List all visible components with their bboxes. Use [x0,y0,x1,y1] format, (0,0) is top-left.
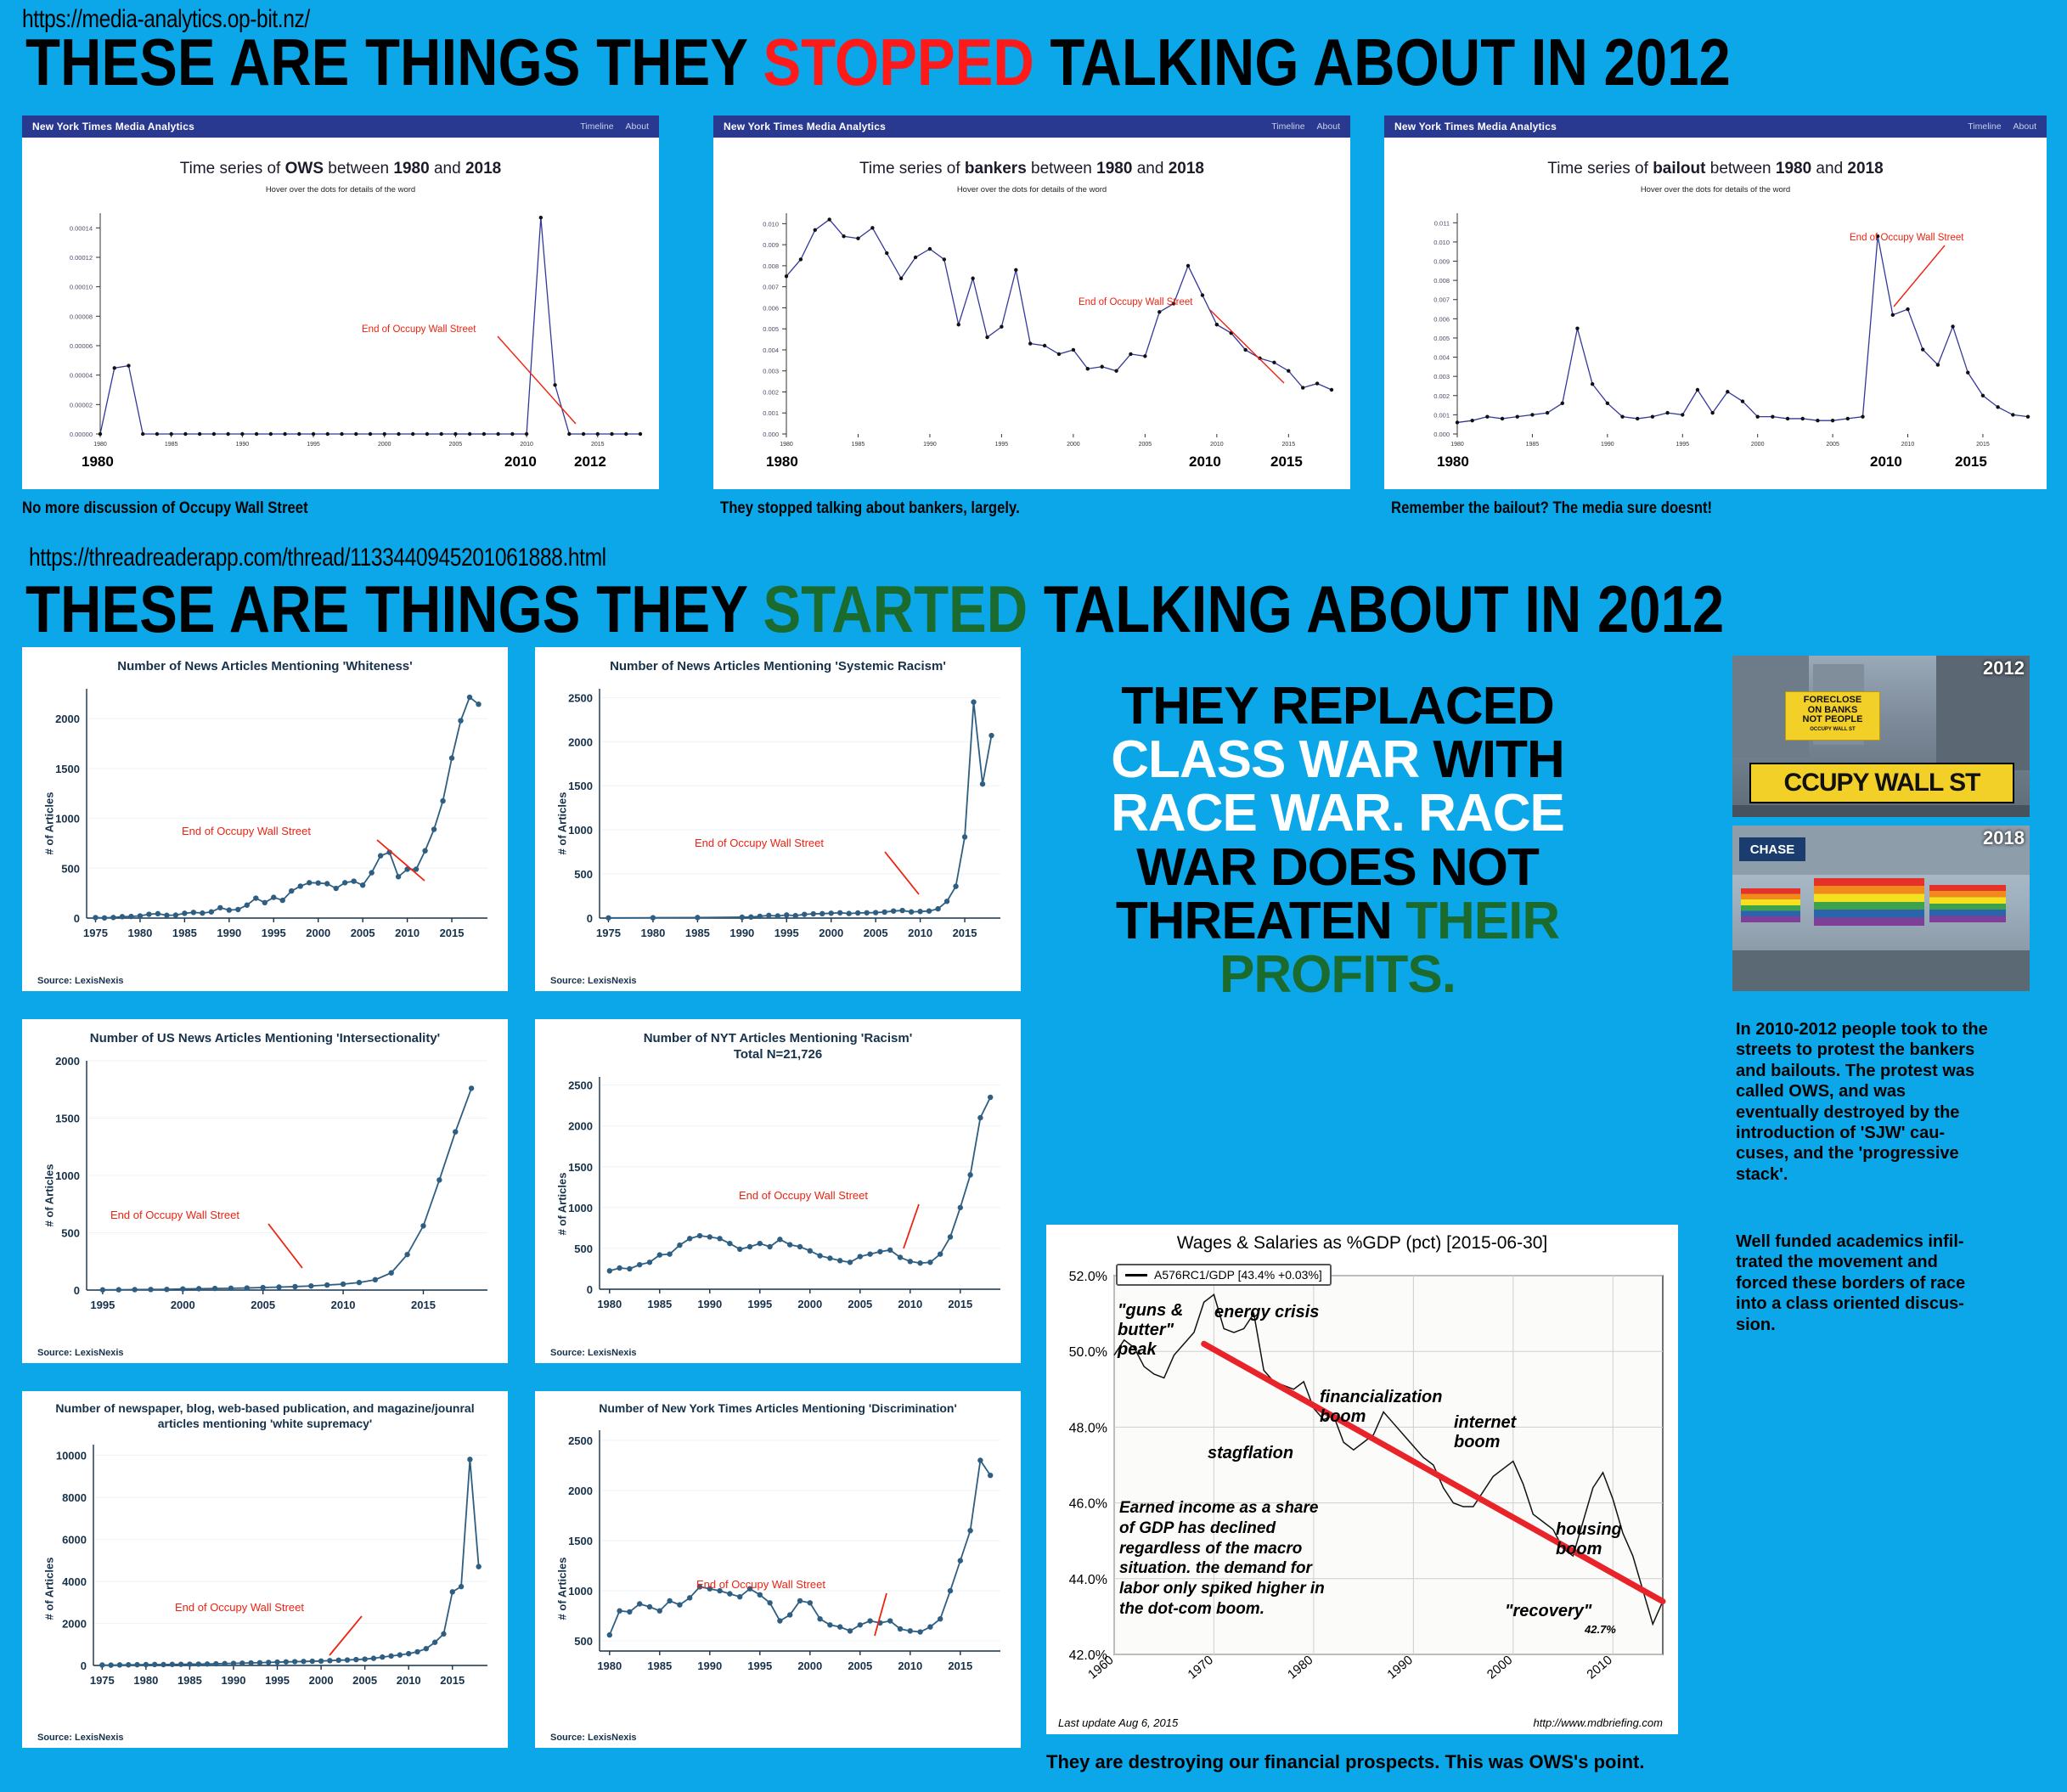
center-slogan: THEY REPLACED CLASS WAR WITH RACE WAR. R… [1053,679,1622,1001]
t-and: and [430,160,465,178]
card-title-nyt-racism: Number of NYT Articles Mentioning 'Racis… [535,1019,1021,1063]
t-and: and [1811,160,1847,178]
t-word: OWS [285,160,324,178]
svg-text:500: 500 [61,862,80,875]
svg-text:44.0%: 44.0% [1069,1573,1107,1587]
svg-text:0.003: 0.003 [763,368,779,375]
svg-text:2000: 2000 [568,735,593,748]
t-and: and [1132,160,1168,178]
ylabel-nyt-discrimination: # of Articles [556,1538,569,1640]
svg-text:1990: 1990 [236,442,250,448]
svg-text:1985: 1985 [165,442,178,448]
svg-text:1980: 1980 [780,442,793,448]
headline-stopped: THESE ARE THINGS THEY STOPPED TALKING AB… [25,24,1731,101]
svg-text:0.00008: 0.00008 [70,313,93,320]
svg-text:0.002: 0.002 [1433,392,1450,400]
card-title-systemic-racism: Number of News Articles Mentioning 'Syst… [535,647,1021,675]
svg-text:2000: 2000 [1751,442,1765,448]
headline-stopped-pre: THESE ARE THINGS THEY [25,25,763,99]
svg-text:1985: 1985 [647,1660,672,1672]
svg-text:1995: 1995 [262,927,286,939]
title-text: Number of NYT Articles Mentioning 'Racis… [644,1031,913,1045]
svg-text:1985: 1985 [177,1674,202,1687]
subtitle-text: Total N=21,726 [734,1047,822,1062]
svg-text:1990: 1990 [1384,1653,1415,1682]
svg-text:0: 0 [587,1283,593,1296]
axis-big-1980-bailout: 1980 [1437,454,1469,471]
svg-text:2015: 2015 [440,927,465,939]
svg-text:2005: 2005 [864,927,888,939]
svg-text:2000: 2000 [797,1298,822,1310]
svg-text:1985: 1985 [852,442,865,448]
plot-bailout: 0.0000.0010.0020.0030.0040.0050.0060.007… [1384,205,2047,459]
nav-about[interactable]: About [626,121,649,132]
svg-text:2000: 2000 [1484,1653,1515,1682]
t-word: bankers [965,160,1027,178]
svg-text:0.006: 0.006 [1433,315,1450,323]
t-from: 1980 [393,160,429,178]
svg-text:500: 500 [61,1226,80,1239]
svg-text:0.008: 0.008 [763,262,779,270]
source-intersectionality: Source: LexisNexis [37,1348,124,1358]
t-mid: between [324,160,393,178]
ylabel-nyt-racism: # of Articles [556,1153,569,1255]
svg-text:0.00000: 0.00000 [70,431,93,438]
svg-text:1975: 1975 [596,927,621,939]
source-url-mid[interactable]: https://threadreaderapp.com/thread/11334… [29,544,606,572]
headline-started: THESE ARE THINGS THEY STARTED TALKING AB… [25,571,1724,648]
t-pre: Time series of [859,160,965,178]
svg-text:0.007: 0.007 [763,284,779,291]
source-white-supremacy: Source: LexisNexis [37,1733,124,1743]
svg-text:2010: 2010 [397,1674,421,1687]
svg-text:2015: 2015 [948,1660,972,1672]
svg-text:2015: 2015 [1976,442,1990,448]
svg-text:1500: 1500 [568,1160,593,1173]
svg-text:1990: 1990 [729,927,754,939]
svg-text:2005: 2005 [1139,442,1152,448]
svg-text:0.00010: 0.00010 [70,284,93,291]
card-wages-gdp: Wages & Salaries as %GDP (pct) [2015-06-… [1046,1225,1678,1734]
svg-text:0.00006: 0.00006 [70,342,93,350]
svg-text:1500: 1500 [568,780,593,792]
svg-text:1500: 1500 [55,1112,80,1124]
panel-title-bankers: Time series of bankers between 1980 and … [713,160,1350,178]
caption-ows: No more discussion of Occupy Wall Street [22,499,308,518]
svg-text:0.00012: 0.00012 [70,254,93,262]
svg-text:2010: 2010 [898,1660,922,1672]
svg-text:1990: 1990 [1601,442,1614,448]
slogan-threaten: THREATEN [1116,892,1405,950]
photo-pride-2018: 2018 CHASE J.P.Morgan [1732,826,2030,991]
t-mid: between [1705,160,1775,178]
caption-bailout: Remember the bailout? The media sure doe… [1391,499,1712,518]
svg-text:2500: 2500 [568,1079,593,1091]
wages-footer-right: http://www.mdbriefing.com [1534,1716,1663,1729]
wages-legend: A576RC1/GDP [43.4% +0.03%] [1116,1264,1332,1286]
nav-about[interactable]: About [1317,121,1340,132]
svg-text:0.004: 0.004 [763,347,779,354]
svg-text:8000: 8000 [62,1491,87,1504]
svg-text:0.001: 0.001 [763,409,779,417]
card-intersectionality: Number of US News Articles Mentioning 'I… [22,1019,508,1363]
nyt-panel-ows[interactable]: New York Times Media Analytics Timeline … [22,116,659,489]
svg-text:52.0%: 52.0% [1069,1270,1107,1284]
slogan-line-1: THEY REPLACED [1053,679,1622,733]
card-nyt-discrimination: Number of New York Times Articles Mentio… [535,1391,1021,1748]
svg-text:2015: 2015 [440,1674,465,1687]
slogan-their: THEIR [1405,892,1559,950]
svg-text:2010: 2010 [1901,442,1915,448]
ann-financialization-boom: financialization boom [1320,1388,1456,1427]
svg-text:2005: 2005 [449,442,463,448]
svg-text:1980: 1980 [127,927,152,939]
card-title-nyt-discrimination: Number of New York Times Articles Mentio… [535,1391,1021,1417]
svg-text:2015: 2015 [591,442,605,448]
card-title-intersectionality: Number of US News Articles Mentioning 'I… [22,1019,508,1047]
svg-text:1000: 1000 [55,812,80,825]
t-to: 2018 [1847,160,1883,178]
panel-subtitle-ows: Hover over the dots for details of the w… [22,185,659,194]
svg-text:0.004: 0.004 [1433,354,1450,362]
svg-text:500: 500 [574,1242,593,1254]
svg-text:0.007: 0.007 [1433,296,1450,304]
ann-recovery: "recovery" [1505,1602,1591,1621]
right-paragraph-1: In 2010-2012 people took to the streets … [1736,1019,1991,1185]
wages-footer-left: Last update Aug 6, 2015 [1058,1716,1178,1729]
svg-text:1985: 1985 [1526,442,1540,448]
svg-text:2000: 2000 [55,1055,80,1068]
svg-text:500: 500 [574,1635,593,1648]
svg-text:1980: 1980 [93,442,107,448]
photo-ows-2012: 2012 FORECLOSE ON BANKS NOT PEOPLE OCCUP… [1732,656,2030,817]
svg-text:1990: 1990 [697,1298,722,1310]
headline-stopped-post: TALKING ABOUT IN 2012 [1034,25,1731,99]
svg-text:1980: 1980 [597,1298,622,1310]
nyt-panel-bankers[interactable]: New York Times Media Analytics Timeline … [713,116,1350,489]
nyt-panel-bailout[interactable]: New York Times Media Analytics Timeline … [1384,116,2047,489]
slogan-class-war: CLASS WAR [1111,730,1419,789]
t-from: 1980 [1096,160,1132,178]
svg-text:End of Occupy Wall Street: End of Occupy Wall Street [1850,233,1964,243]
card-title-whiteness: Number of News Articles Mentioning 'Whit… [22,647,508,675]
source-nyt-racism: Source: LexisNexis [550,1348,637,1358]
svg-text:0.009: 0.009 [763,241,779,249]
svg-text:1980: 1980 [1450,442,1464,448]
ann-guns-butter: "guns & butter" peak [1118,1301,1202,1360]
svg-text:1995: 1995 [774,927,799,939]
svg-text:0.005: 0.005 [1433,335,1450,342]
nyt-topbar: New York Times Media Analytics Timeline … [713,116,1350,138]
svg-text:2000: 2000 [1067,442,1080,448]
t-to: 2018 [1169,160,1204,178]
banner-foreclose: FORECLOSE ON BANKS NOT PEOPLE OCCUPY WAL… [1785,691,1880,741]
t-pre: Time series of [1547,160,1653,178]
nav-timeline[interactable]: Timeline [1968,121,2001,132]
axis-big-2010-ows: 2010 [504,454,537,471]
svg-text:1980: 1980 [597,1660,622,1672]
legend-label: A576RC1/GDP [43.4% +0.03%] [1154,1268,1322,1282]
rainbow-flag-1 [1814,878,1924,926]
svg-text:0: 0 [74,1284,80,1297]
svg-text:0: 0 [74,912,80,925]
svg-text:2000: 2000 [568,1119,593,1132]
svg-text:End of Occupy Wall Street: End of Occupy Wall Street [739,1189,868,1202]
svg-text:2000: 2000 [378,442,391,448]
svg-text:500: 500 [574,868,593,881]
source-whiteness: Source: LexisNexis [37,976,124,986]
svg-text:1995: 1995 [747,1660,772,1672]
banner-line-3: NOT PEOPLE [1788,715,1877,725]
panel-title-bailout: Time series of bailout between 1980 and … [1384,160,2047,178]
slogan-line-5: THREATEN THEIR [1053,894,1622,948]
svg-text:0.003: 0.003 [1433,373,1450,380]
rainbow-flag-3 [1741,888,1800,922]
slogan-line-2: CLASS WAR WITH [1053,733,1622,786]
svg-text:1000: 1000 [568,1201,593,1214]
svg-text:2500: 2500 [568,691,593,704]
rainbow-flag-2 [1929,885,2006,922]
svg-text:2500: 2500 [568,1434,593,1446]
svg-text:0.008: 0.008 [1433,277,1450,285]
nav-about[interactable]: About [2013,121,2036,132]
svg-text:2005: 2005 [848,1660,872,1672]
svg-text:2000: 2000 [306,927,330,939]
svg-text:1995: 1995 [307,442,320,448]
svg-text:4000: 4000 [62,1575,87,1588]
ann-housing-boom: housing boom [1556,1520,1641,1559]
t-mid: between [1027,160,1096,178]
svg-text:1000: 1000 [568,1585,593,1598]
svg-text:1990: 1990 [222,1674,246,1687]
nav-timeline[interactable]: Timeline [580,121,613,132]
card-white-supremacy: Number of newspaper, blog, web-based pub… [22,1391,508,1748]
svg-text:1975: 1975 [90,1674,115,1687]
svg-text:End of Occupy Wall Street: End of Occupy Wall Street [696,1578,825,1591]
svg-text:2010: 2010 [908,927,932,939]
axis-big-2015-bailout: 2015 [1955,454,1987,471]
axis-big-2010-bankers: 2010 [1189,454,1221,471]
plot-bankers: 0.0000.0010.0020.0030.0040.0050.0060.007… [713,205,1350,459]
t-from: 1980 [1776,160,1811,178]
source-systemic-racism: Source: LexisNexis [550,976,637,986]
card-systemic-racism: Number of News Articles Mentioning 'Syst… [535,647,1021,991]
svg-text:1990: 1990 [923,442,937,448]
svg-text:2000: 2000 [309,1674,334,1687]
photo-year-2018: 2018 [1983,827,2025,849]
svg-text:End of Occupy Wall Street: End of Occupy Wall Street [1079,297,1193,307]
card-nyt-racism: Number of NYT Articles Mentioning 'Racis… [535,1019,1021,1363]
ylabel-intersectionality: # of Articles [43,1145,56,1247]
svg-text:2015: 2015 [953,927,977,939]
svg-text:1000: 1000 [568,824,593,837]
svg-text:1500: 1500 [568,1535,593,1547]
svg-text:2010: 2010 [395,927,420,939]
svg-text:1980: 1980 [1285,1653,1315,1682]
svg-text:2005: 2005 [848,1298,872,1310]
svg-text:1980: 1980 [133,1674,158,1687]
slogan-line-3: RACE WAR. RACE [1053,786,1622,840]
svg-text:0.000: 0.000 [763,431,779,438]
ann-internet-boom: internet boom [1454,1413,1539,1452]
svg-text:End of Occupy Wall Street: End of Occupy Wall Street [110,1209,239,1221]
svg-text:2010: 2010 [1584,1653,1614,1682]
headline-started-post: TALKING ABOUT IN 2012 [1028,572,1724,646]
svg-text:10000: 10000 [56,1449,87,1462]
wages-note: Earned income as a share of GDP has decl… [1119,1498,1332,1620]
slogan-line-6: PROFITS. [1053,948,1622,1001]
banner-sub: OCCUPY WALL ST [1788,727,1877,732]
banner-line-1: FORECLOSE [1788,696,1877,706]
nav-timeline[interactable]: Timeline [1271,121,1304,132]
banner-occupy-wall-st: CCUPY WALL ST [1749,763,2014,803]
svg-text:0.001: 0.001 [1433,411,1450,419]
axis-big-2010-bailout: 2010 [1870,454,1902,471]
svg-text:End of Occupy Wall Street: End of Occupy Wall Street [175,1601,304,1614]
svg-text:2010: 2010 [1210,442,1224,448]
svg-text:2000: 2000 [797,1660,822,1672]
svg-text:1995: 1995 [1676,442,1689,448]
svg-text:2010: 2010 [331,1299,356,1311]
nyt-topbar: New York Times Media Analytics Timeline … [1384,116,2047,138]
legend-line-swatch [1125,1274,1147,1276]
svg-text:2015: 2015 [948,1298,972,1310]
headline-started-pre: THESE ARE THINGS THEY [25,572,763,646]
sign-chase: CHASE [1739,837,1805,861]
svg-text:2005: 2005 [351,927,375,939]
svg-text:1995: 1995 [265,1674,290,1687]
ann-427: 42.7% [1585,1624,1616,1637]
svg-text:End of Occupy Wall Street: End of Occupy Wall Street [695,837,824,849]
svg-text:2010: 2010 [520,442,533,448]
source-nyt-discrimination: Source: LexisNexis [550,1733,637,1743]
headline-started-accent: STARTED [763,572,1028,646]
svg-text:2000: 2000 [55,713,80,725]
svg-text:46.0%: 46.0% [1069,1497,1107,1512]
headline-stopped-accent: STOPPED [763,25,1033,99]
svg-text:2010: 2010 [898,1298,922,1310]
svg-text:1985: 1985 [172,927,197,939]
slogan-with: WITH [1419,730,1564,789]
caption-bankers: They stopped talking about bankers, larg… [720,499,1020,518]
svg-text:1995: 1995 [995,442,1009,448]
axis-big-2015-bankers: 2015 [1270,454,1303,471]
nyt-topbar: New York Times Media Analytics Timeline … [22,116,659,138]
svg-text:2015: 2015 [411,1299,436,1311]
svg-text:0: 0 [81,1660,87,1672]
axis-big-1980-ows: 1980 [82,454,114,471]
svg-text:0.00002: 0.00002 [70,401,93,409]
svg-text:1995: 1995 [90,1299,115,1311]
axis-big-2012-ows: 2012 [574,454,606,471]
svg-text:End of Occupy Wall Street: End of Occupy Wall Street [182,825,311,837]
plot-ows: 0.000000.000020.000040.000060.000080.000… [22,205,659,459]
bottom-caption: They are destroying our financial prospe… [1046,1751,1644,1773]
svg-text:1990: 1990 [697,1660,722,1672]
svg-text:1000: 1000 [55,1169,80,1182]
svg-text:0.00014: 0.00014 [70,224,93,232]
svg-text:0.011: 0.011 [1434,219,1450,227]
svg-text:1985: 1985 [647,1298,672,1310]
svg-text:2000: 2000 [568,1484,593,1496]
card-whiteness: Number of News Articles Mentioning 'Whit… [22,647,508,991]
svg-text:2015: 2015 [1282,442,1296,448]
slogan-line-4: WAR DOES NOT [1053,841,1622,894]
t-pre: Time series of [180,160,285,178]
ylabel-whiteness: # of Articles [43,773,56,875]
svg-text:2000: 2000 [819,927,843,939]
svg-text:0.00004: 0.00004 [70,372,93,380]
svg-text:0.010: 0.010 [763,220,779,228]
nyt-brand: New York Times Media Analytics [724,121,886,132]
right-paragraph-2: Well funded academics infil-trated the m… [1736,1231,1991,1335]
panel-subtitle-bailout: Hover over the dots for details of the w… [1384,185,2047,194]
svg-text:0.006: 0.006 [763,304,779,312]
t-to: 2018 [465,160,501,178]
svg-text:1980: 1980 [640,927,665,939]
svg-text:1970: 1970 [1186,1653,1216,1682]
nyt-brand: New York Times Media Analytics [1394,121,1557,132]
svg-text:0.005: 0.005 [763,325,779,333]
photo-year-2012: 2012 [1983,657,2025,679]
svg-text:1985: 1985 [685,927,710,939]
svg-text:0.009: 0.009 [1433,258,1450,266]
svg-text:2000: 2000 [62,1617,87,1630]
t-word: bailout [1653,160,1705,178]
ylabel-systemic-racism: # of Articles [556,773,569,875]
svg-text:48.0%: 48.0% [1069,1421,1107,1435]
svg-text:2000: 2000 [171,1299,195,1311]
svg-text:0.002: 0.002 [763,388,779,396]
ann-energy-crisis: energy crisis [1214,1303,1319,1322]
axis-big-1980-bankers: 1980 [766,454,798,471]
wages-title: Wages & Salaries as %GDP (pct) [2015-06-… [1046,1225,1678,1254]
svg-text:50.0%: 50.0% [1069,1345,1107,1360]
svg-text:End of Occupy Wall Street: End of Occupy Wall Street [362,324,476,335]
svg-text:1975: 1975 [83,927,108,939]
svg-text:2005: 2005 [352,1674,377,1687]
panel-title-ows: Time series of OWS between 1980 and 2018 [22,160,659,178]
svg-text:6000: 6000 [62,1533,87,1546]
svg-text:1990: 1990 [217,927,241,939]
card-title-white-supremacy: Number of newspaper, blog, web-based pub… [22,1391,508,1431]
svg-text:1995: 1995 [747,1298,772,1310]
svg-text:2005: 2005 [1826,442,1839,448]
nyt-brand: New York Times Media Analytics [32,121,194,132]
ylabel-white-supremacy: # of Articles [43,1538,56,1640]
svg-text:2005: 2005 [251,1299,275,1311]
svg-text:0: 0 [587,912,593,925]
svg-text:0.010: 0.010 [1433,239,1450,246]
svg-text:1500: 1500 [55,763,80,775]
ann-stagflation: stagflation [1208,1444,1293,1463]
svg-text:0.000: 0.000 [1433,431,1450,438]
panel-subtitle-bankers: Hover over the dots for details of the w… [713,185,1350,194]
